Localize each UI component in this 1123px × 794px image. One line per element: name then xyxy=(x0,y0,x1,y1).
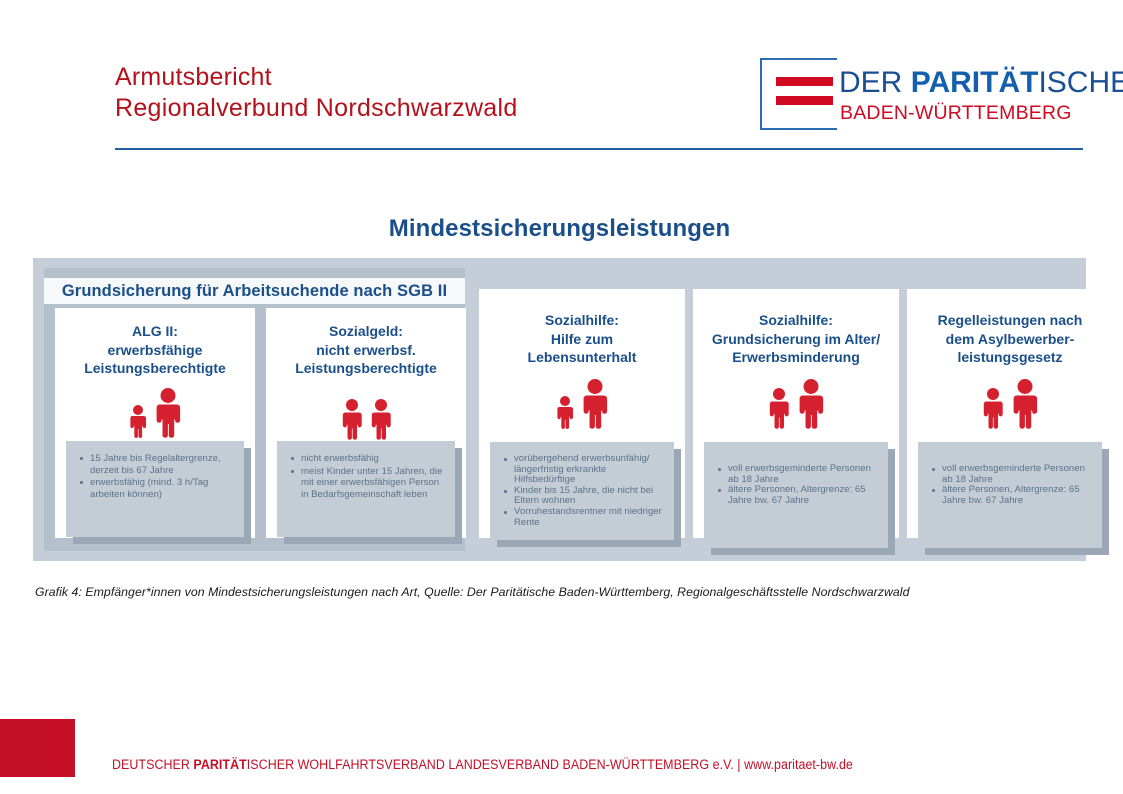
infographic-body: Grundsicherung für Arbeitsuchende nach S… xyxy=(33,258,1086,561)
logo-wordmark: DER PARITÄTISCHE xyxy=(839,67,1123,99)
page-title: Armutsbericht Regionalverbund Nordschwar… xyxy=(115,62,518,124)
card-asylbewerberleistungsgesetz[interactable]: Regelleistungen nach dem Asylbewerber- l… xyxy=(907,289,1113,538)
adult-figure-icon xyxy=(796,379,826,429)
card-bullets-container: nicht erwerbsfähig meist Kinder unter 15… xyxy=(277,441,455,537)
card-title-line: leistungsgesetz xyxy=(907,348,1113,367)
infographic: Mindestsicherungsleistungen Grundsicheru… xyxy=(33,215,1086,565)
logo-wordmark-pre: DER xyxy=(839,66,911,99)
card-title: ALG II: erwerbsfähige Leistungsberechtig… xyxy=(55,308,255,378)
card-bullets: vorübergehend erwerbsunfähig/ längerfris… xyxy=(490,442,674,540)
list-item: ältere Personen, Altergrenze: 65 Jahre b… xyxy=(942,485,1092,506)
card-title-line: Lebensunterhalt xyxy=(479,348,685,367)
list-item: Kinder bis 15 Jahre, die nicht bei Elter… xyxy=(514,486,664,507)
card-sozialgeld[interactable]: Sozialgeld: nicht erwerbsf. Leistungsber… xyxy=(266,308,466,538)
card-bullets-container: voll erwerbsgeminderte Personen ab 18 Ja… xyxy=(918,442,1102,548)
child-figure-icon xyxy=(128,405,148,438)
list-item: vorübergehend erwerbsunfähig/ längerfris… xyxy=(514,454,664,486)
pictogram-group xyxy=(693,377,899,429)
logo-subtitle: BADEN-WÜRTTEMBERG xyxy=(840,102,1072,124)
infographic-title: Mindestsicherungsleistungen xyxy=(33,215,1086,243)
logo-wordmark-post: ISCHE xyxy=(1038,66,1123,99)
card-title-line: Hilfe zum xyxy=(479,330,685,349)
card-title-line: erwerbsfähige xyxy=(55,341,255,360)
card-title-line: ALG II: xyxy=(55,322,255,341)
adult-figure-icon xyxy=(580,379,610,429)
slide-header: Armutsbericht Regionalverbund Nordschwar… xyxy=(0,0,1123,155)
list-item: ältere Personen, Altergrenze: 65 Jahre b… xyxy=(728,485,878,506)
sgb-ii-group-label: Grundsicherung für Arbeitsuchende nach S… xyxy=(62,282,447,301)
footer-accent-square xyxy=(0,719,75,777)
teen-figure-icon xyxy=(981,388,1005,429)
card-title: Sozialhilfe: Hilfe zum Lebensunterhalt xyxy=(479,289,685,367)
card-title-line: Leistungsberechtigte xyxy=(55,359,255,378)
logo-bar-top-icon xyxy=(776,77,833,86)
list-item: erwerbsfähig (mind. 3 h/Tag arbeiten kön… xyxy=(90,477,234,500)
logo-wordmark-bold: PARITÄT xyxy=(911,66,1039,99)
list-item: nicht erwerbsfähig xyxy=(301,453,445,465)
card-bullets: nicht erwerbsfähig meist Kinder unter 15… xyxy=(277,441,455,537)
list-item: 15 Jahre bis Regelaltergrenze, derzeit b… xyxy=(90,453,234,476)
teen-figure-icon xyxy=(340,399,364,440)
list-item: voll erwerbsgeminderte Personen ab 18 Ja… xyxy=(728,464,878,485)
list-item: meist Kinder unter 15 Jahren, die mit ei… xyxy=(301,466,445,501)
teen-figure-icon xyxy=(369,399,393,440)
card-title: Sozialhilfe: Grundsicherung im Alter/ Er… xyxy=(693,289,899,367)
card-sozialhilfe-grundsicherung-alter[interactable]: Sozialhilfe: Grundsicherung im Alter/ Er… xyxy=(693,289,899,538)
card-alg-ii[interactable]: ALG II: erwerbsfähige Leistungsberechtig… xyxy=(55,308,255,538)
card-title: Sozialgeld: nicht erwerbsf. Leistungsber… xyxy=(266,308,466,378)
card-title-line: Sozialhilfe: xyxy=(693,311,899,330)
adult-figure-icon xyxy=(153,388,183,438)
logo-frame-icon xyxy=(760,58,837,130)
card-title-line: Sozialhilfe: xyxy=(479,311,685,330)
card-title-line: Regelleistungen nach xyxy=(907,311,1113,330)
card-bullets: 15 Jahre bis Regelaltergrenze, derzeit b… xyxy=(66,441,244,537)
list-item: voll erwerbsgeminderte Personen ab 18 Ja… xyxy=(942,464,1092,485)
figure-caption: Grafik 4: Empfänger*innen von Mindestsic… xyxy=(35,585,1085,599)
card-title-line: nicht erwerbsf. xyxy=(266,341,466,360)
pictogram-group xyxy=(907,377,1113,429)
card-title: Regelleistungen nach dem Asylbewerber- l… xyxy=(907,289,1113,367)
card-bullets: voll erwerbsgeminderte Personen ab 18 Ja… xyxy=(704,442,888,548)
card-bullets-container: 15 Jahre bis Regelaltergrenze, derzeit b… xyxy=(66,441,244,537)
card-bullets: voll erwerbsgeminderte Personen ab 18 Ja… xyxy=(918,442,1102,548)
logo-bar-bottom-icon xyxy=(776,96,833,105)
list-item: Vorruhestandsrentner mit niedriger Rente xyxy=(514,507,664,528)
footer-text-bold: PARITÄT xyxy=(193,757,246,772)
page-title-line-1: Armutsbericht xyxy=(115,62,518,93)
card-bullets-container: vorübergehend erwerbsunfähig/ längerfris… xyxy=(490,442,674,540)
child-figure-icon xyxy=(555,396,575,429)
card-title-line: Erwerbsminderung xyxy=(693,348,899,367)
card-sozialhilfe-lebensunterhalt[interactable]: Sozialhilfe: Hilfe zum Lebensunterhalt xyxy=(479,289,685,538)
pictogram-group xyxy=(266,388,466,440)
card-title-line: Leistungsberechtigte xyxy=(266,359,466,378)
footer-text-post: ISCHER WOHLFAHRTSVERBAND LANDESVERBAND B… xyxy=(247,757,853,772)
der-paritaetische-logo: DER PARITÄTISCHE BADEN-WÜRTTEMBERG xyxy=(760,58,1092,136)
card-title-line: dem Asylbewerber- xyxy=(907,330,1113,349)
footer-text: DEUTSCHER PARITÄTISCHER WOHLFAHRTSVERBAN… xyxy=(112,757,853,772)
sgb-ii-group-banner: Grundsicherung für Arbeitsuchende nach S… xyxy=(44,278,465,304)
adult-figure-icon xyxy=(1010,379,1040,429)
footer-text-pre: DEUTSCHER xyxy=(112,757,193,772)
teen-figure-icon xyxy=(767,388,791,429)
pictogram-group xyxy=(55,386,255,438)
card-title-line: Sozialgeld: xyxy=(266,322,466,341)
card-title-line: Grundsicherung im Alter/ xyxy=(693,330,899,349)
pictogram-group xyxy=(479,377,685,429)
card-bullets-container: voll erwerbsgeminderte Personen ab 18 Ja… xyxy=(704,442,888,548)
header-divider xyxy=(115,148,1083,150)
page-title-line-2: Regionalverbund Nordschwarzwald xyxy=(115,93,518,124)
